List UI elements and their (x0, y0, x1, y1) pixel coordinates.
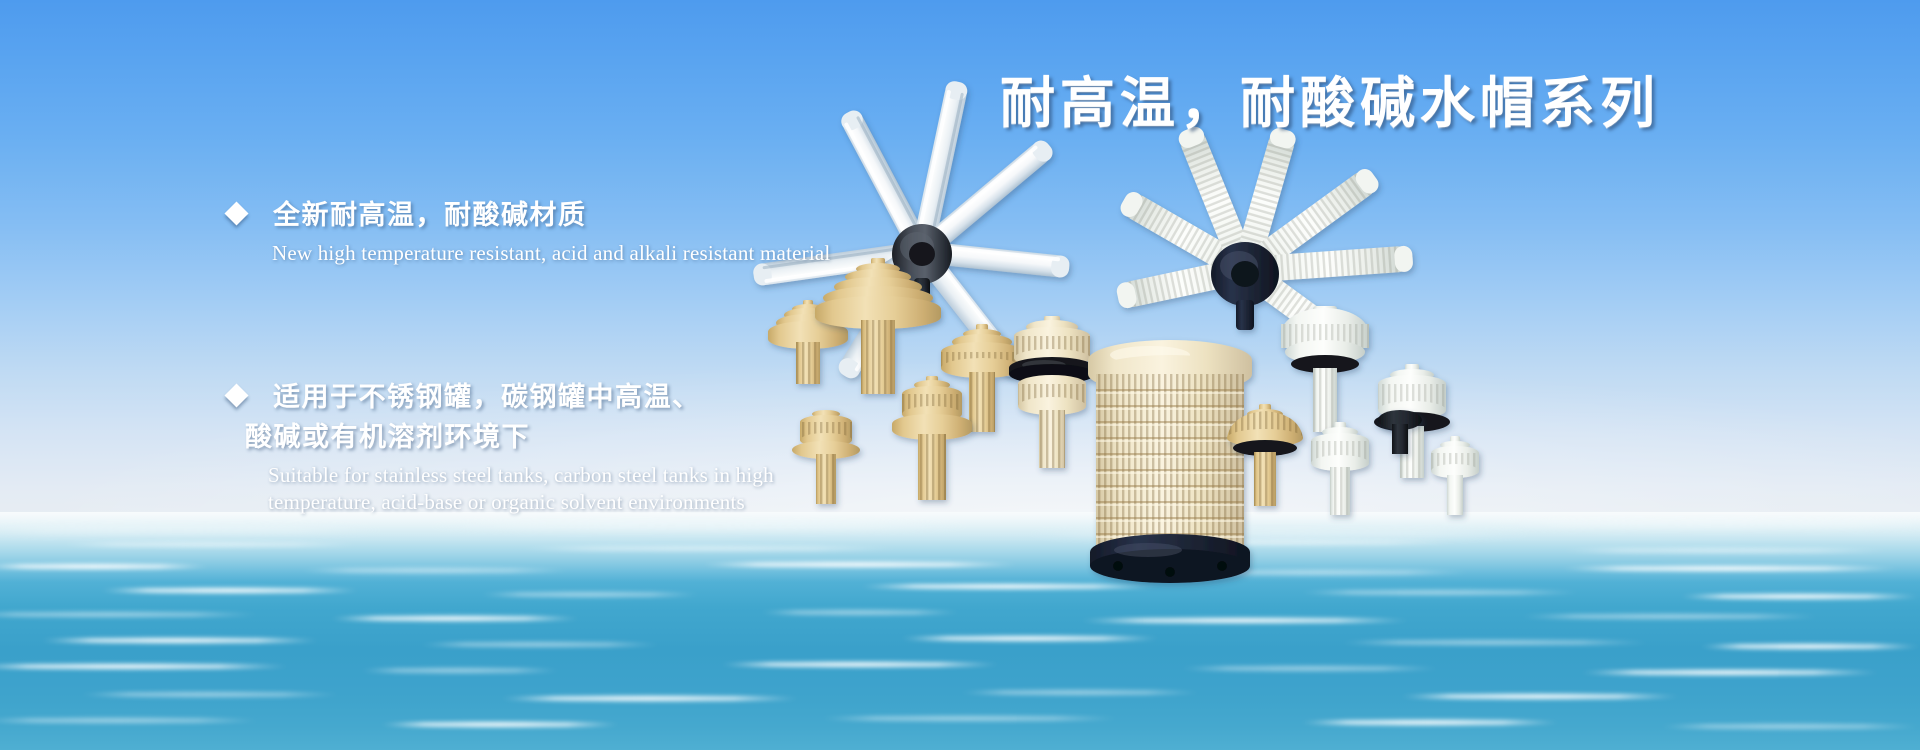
bullet-2-cn-line-2: 酸碱或有机溶剂环境下 (245, 418, 701, 458)
central-stacked-disc-filter (1088, 340, 1252, 583)
water-ripples (0, 512, 1920, 750)
bullet-2-cn-line-1: 适用于不锈钢罐，碳钢罐中高温、 (273, 378, 701, 418)
feature-bullet-2: 适用于不锈钢罐，碳钢罐中高温、 酸碱或有机溶剂环境下 (228, 378, 701, 458)
promo-banner: 耐高温，耐酸碱水帽系列 全新耐高温，耐酸碱材质 New high tempera… (0, 0, 1920, 750)
right-hose-star (1115, 124, 1413, 357)
white-cap-small-lower (1311, 422, 1369, 515)
page-title: 耐高温，耐酸碱水帽系列 (1000, 58, 1660, 138)
feature-bullet-1: 全新耐高温，耐酸碱材质 (228, 196, 587, 236)
product-cluster (700, 120, 1500, 540)
bullet-2-en-line-1: Suitable for stainless steel tanks, carb… (268, 462, 774, 489)
bullet-2-en-block: Suitable for stainless steel tanks, carb… (268, 462, 774, 516)
cream-cap-gasket-a (1009, 316, 1095, 468)
bullet-2-en-line-2: temperature, acid-base or organic solven… (268, 489, 774, 516)
tan-cap-tall-disc (892, 376, 972, 500)
diamond-bullet-icon (224, 383, 248, 407)
white-nozzle-far-right (1431, 436, 1479, 515)
white-bulb-cap (1281, 306, 1369, 432)
water-surface (0, 512, 1920, 750)
bullet-1-cn-line-1: 全新耐高温，耐酸碱材质 (273, 196, 587, 236)
tan-cap-bottom-left (792, 410, 860, 504)
diamond-bullet-icon (224, 201, 248, 225)
bullet-1-en-line-1: New high temperature resistant, acid and… (272, 240, 830, 267)
